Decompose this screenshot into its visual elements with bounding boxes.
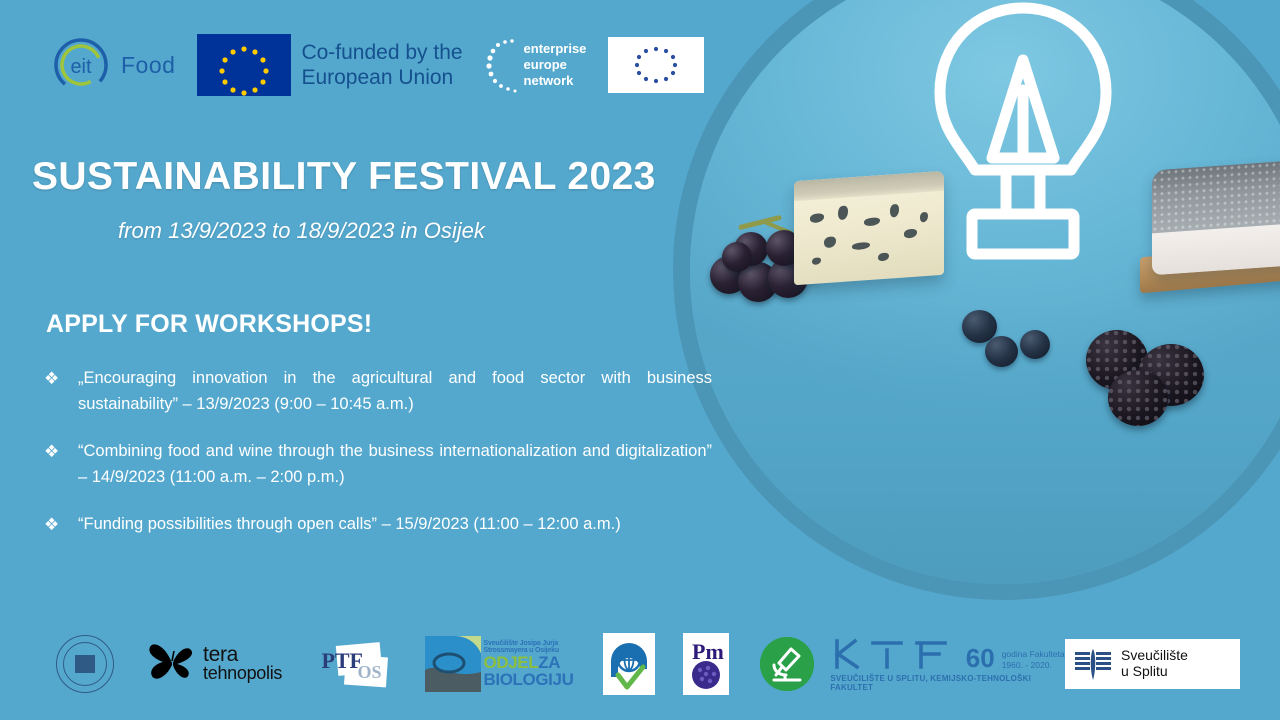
ktf-60-logo: 60 godina Fakulteta 1960. - 2020. SVEUČI… bbox=[830, 637, 1065, 692]
ktf-years-line1: godina Fakulteta bbox=[1002, 649, 1065, 660]
eu-stars-box-icon bbox=[608, 37, 704, 93]
diamond-bullet-icon: ❖ bbox=[40, 439, 78, 490]
tera-tehnopolis-logo: tera tehnopolis bbox=[130, 639, 299, 689]
odjel-za-biologiju-logo: Sveučilište Josipa Jurja Strossmayera u … bbox=[410, 636, 588, 692]
eit-circle-logo: eit bbox=[50, 34, 112, 96]
diamond-bullet-icon: ❖ bbox=[40, 512, 78, 538]
ptf-logo: PTF OS bbox=[299, 638, 410, 690]
pm-logo: Pm bbox=[669, 633, 744, 695]
sveuciliste-u-splitu-logo: Sveučilište u Splitu bbox=[1065, 639, 1240, 689]
globe-check-icon bbox=[603, 633, 655, 695]
odjel-emblem-icon bbox=[425, 636, 481, 692]
page-subtitle: from 13/9/2023 to 18/9/2023 in Osijek bbox=[118, 218, 485, 244]
light-bulb-icon bbox=[928, 0, 1118, 298]
page-title: SUSTAINABILITY FESTIVAL 2023 bbox=[32, 155, 656, 199]
ktf-years-line2: 1960. - 2020. bbox=[1002, 660, 1065, 671]
eit-food-wordmark: Food bbox=[121, 52, 175, 79]
eu-cofunded-line1: Co-funded by the bbox=[301, 40, 462, 65]
split-line2: u Splitu bbox=[1121, 664, 1188, 680]
microscope-logo bbox=[744, 637, 830, 691]
list-item: ❖ “Combining food and wine through the b… bbox=[40, 439, 712, 490]
ktf-anniversary-number: 60 bbox=[966, 645, 995, 671]
blackberry bbox=[1108, 370, 1168, 426]
list-item: ❖ “Funding possibilities through open ca… bbox=[40, 512, 712, 538]
tera-tehnopolis-wordmark: tera tehnopolis bbox=[203, 645, 282, 682]
diamond-bullet-icon: ❖ bbox=[40, 366, 78, 417]
een-line2: europe bbox=[524, 57, 587, 73]
open-book-icon bbox=[1073, 646, 1113, 682]
eit-acronym: eit bbox=[70, 56, 92, 78]
workshop-item-text: “Combining food and wine through the bus… bbox=[78, 439, 712, 490]
eu-flag-icon bbox=[197, 34, 291, 96]
een-line3: network bbox=[524, 73, 587, 89]
eu-cofunded-text: Co-funded by the European Union bbox=[301, 40, 462, 90]
photo-floor-shadow bbox=[690, 302, 1280, 584]
workshop-item-text: “Funding possibilities through open call… bbox=[78, 512, 712, 538]
food-and-lightbulb-photo bbox=[690, 0, 1280, 584]
partner-logo-row: tera tehnopolis PTF OS bbox=[0, 618, 1280, 710]
een-line1: enterprise bbox=[524, 41, 587, 57]
een-stars-icon bbox=[485, 37, 519, 93]
ptf-sub-wordmark: OS bbox=[357, 662, 381, 683]
header-logo-row: eit Food bbox=[50, 34, 704, 96]
university-seal-icon bbox=[56, 635, 114, 693]
salmon-fillet bbox=[1152, 156, 1280, 276]
blueberry bbox=[1020, 330, 1050, 359]
workshop-list: ❖ „Encouraging innovation in the agricul… bbox=[40, 366, 712, 561]
blue-cheese-wedge bbox=[794, 171, 944, 285]
pm-icon: Pm bbox=[683, 633, 729, 695]
eit-food-logo: eit Food bbox=[50, 34, 175, 96]
eu-cofunded-line2: European Union bbox=[301, 65, 462, 90]
tera-line2: tehnopolis bbox=[203, 665, 282, 682]
enterprise-europe-network-logo: enterprise europe network bbox=[485, 37, 587, 93]
globe-check-logo bbox=[588, 633, 669, 695]
apply-heading: APPLY FOR WORKSHOPS! bbox=[46, 310, 372, 339]
eu-cofunded-logo: Co-funded by the European Union bbox=[197, 34, 462, 96]
list-item: ❖ „Encouraging innovation in the agricul… bbox=[40, 366, 712, 417]
ktf-caption: SVEUČILIŠTE U SPLITU, KEMIJSKO-TEHNOLOŠK… bbox=[830, 674, 1065, 692]
svg-text:Pm: Pm bbox=[692, 639, 724, 664]
workshop-item-text: „Encouraging innovation in the agricultu… bbox=[78, 366, 712, 417]
een-wordmark: enterprise europe network bbox=[524, 41, 587, 89]
university-seal-logo bbox=[40, 635, 130, 693]
odjel-top-line1: Sveučilište Josipa Jurja bbox=[484, 640, 574, 647]
microscope-icon bbox=[760, 637, 814, 691]
ktf-letters-icon bbox=[831, 637, 959, 671]
poster-canvas: eit Food bbox=[0, 0, 1280, 720]
odjel-word-biologiju: BIOLOGIJU bbox=[484, 671, 574, 688]
butterfly-icon bbox=[147, 639, 199, 689]
split-line1: Sveučilište bbox=[1121, 648, 1188, 664]
blueberry bbox=[985, 336, 1018, 367]
